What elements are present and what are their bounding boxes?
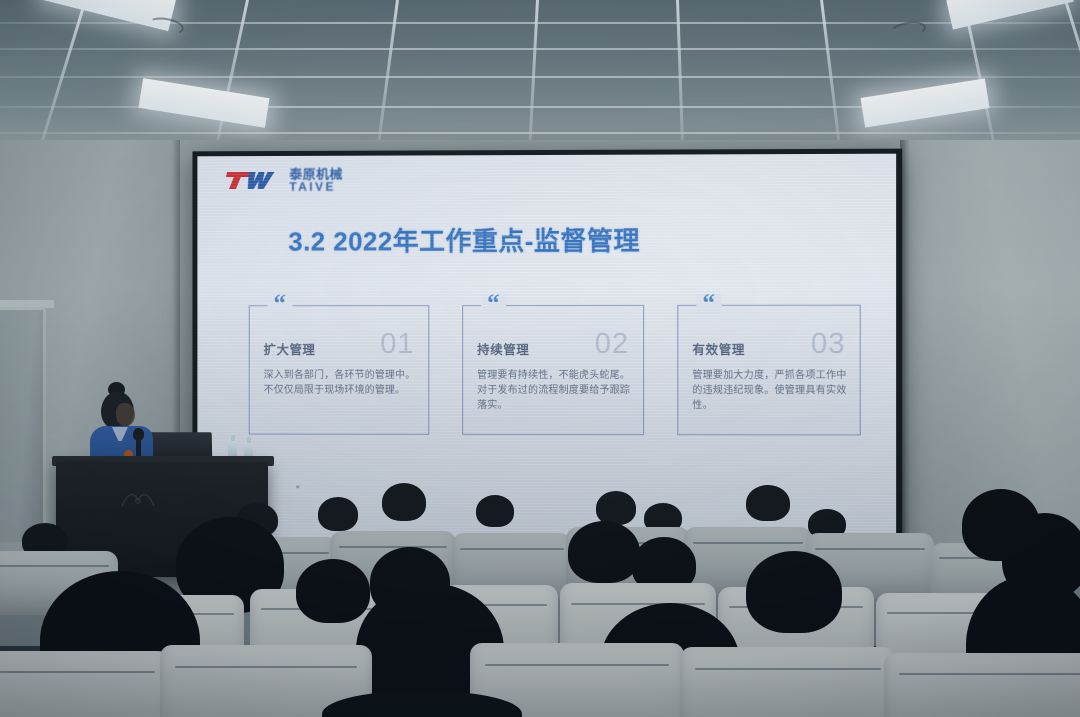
presentation-photo-scene: 泰原机械 TAIVE 3.2 2022年工作重点-监督管理 “ 扩大管理 01 … <box>0 0 1080 717</box>
slide-card-2: “ 持续管理 02 管理要有持续性，不能虎头蛇尾。对于发布过的流程制度要给予跟踪… <box>462 305 644 435</box>
ceiling-rail <box>40 0 87 140</box>
company-logo: 泰原机械 TAIVE <box>225 168 343 193</box>
slide-card-3: “ 有效管理 03 管理要加大力度，严抓各项工作中的违规违纪现象。使管理具有实效… <box>677 305 860 436</box>
card-body: 深入到各部门，各环节的管理中。不仅仅局限于现场环境的管理。 <box>264 368 417 398</box>
attendee-head <box>746 551 842 633</box>
card-heading: 扩大管理 <box>264 339 316 358</box>
seat <box>0 651 170 717</box>
attendee-head <box>318 497 358 531</box>
slide-card-1: “ 扩大管理 01 深入到各部门，各环节的管理中。不仅仅局限于现场环境的管理。 <box>249 305 430 435</box>
attendee-head <box>596 491 636 525</box>
attendee-head <box>296 559 370 623</box>
ceiling-rail <box>528 0 539 140</box>
taive-logo-mark <box>225 168 282 193</box>
ceiling-light-panel <box>138 78 269 128</box>
ceiling-cross-rail <box>0 132 1080 134</box>
quote-icon: “ <box>268 294 292 314</box>
logo-latin-text: TAIVE <box>289 181 343 193</box>
slide-title: 3.2 2022年工作重点-监督管理 <box>288 221 640 259</box>
logo-wordmark: 泰原机械 TAIVE <box>289 168 343 193</box>
slide-card-row: “ 扩大管理 01 深入到各部门，各环节的管理中。不仅仅局限于现场环境的管理。 … <box>249 305 861 436</box>
card-body: 管理要有持续性，不能虎头蛇尾。对于发布过的流程制度要给予跟踪落实。 <box>477 368 631 413</box>
ceiling-light-panel <box>946 0 1074 30</box>
attendee-head <box>746 485 790 521</box>
ceiling-rail <box>676 0 684 140</box>
ceiling-cross-rail <box>0 48 1080 50</box>
card-body: 管理要加大力度，严抓各项工作中的违规违纪现象。使管理具有实效性。 <box>692 368 847 413</box>
ceiling-rail <box>820 0 841 140</box>
attendee-head <box>568 521 640 583</box>
audience-area <box>0 455 1080 717</box>
ceiling-rail <box>1064 0 1080 140</box>
seat <box>680 647 896 717</box>
attendee-head <box>382 483 426 521</box>
card-number: 03 <box>811 328 846 361</box>
ceiling-light-panel <box>860 78 989 127</box>
ceiling-vent <box>147 15 185 37</box>
card-number: 02 <box>595 328 629 361</box>
ceiling-rail <box>376 0 399 140</box>
card-heading: 持续管理 <box>477 339 529 358</box>
ceiling-cross-rail <box>0 76 1080 78</box>
seat <box>884 653 1080 717</box>
quote-icon: “ <box>481 294 505 314</box>
card-number: 01 <box>380 328 414 361</box>
presenter-face <box>116 403 135 426</box>
ceiling-grid <box>0 0 1080 140</box>
attendee-head <box>476 495 514 527</box>
card-heading: 有效管理 <box>692 339 745 358</box>
quote-icon: “ <box>696 294 721 314</box>
